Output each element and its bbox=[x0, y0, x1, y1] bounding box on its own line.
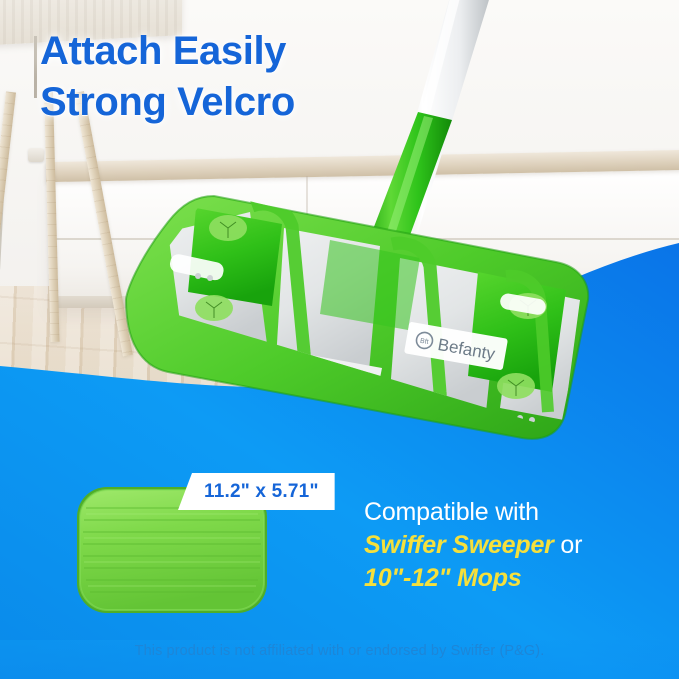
dimension-badge-shape: 11.2" x 5.71" bbox=[178, 473, 335, 510]
dimension-badge-text: 11.2" x 5.71" bbox=[204, 481, 319, 503]
compatibility-emphasis-swiffer: Swiffer Sweeper bbox=[364, 531, 554, 559]
product-marketing-image: Bft Befanty Attach Easily Strong Velcro bbox=[0, 0, 679, 679]
compatibility-copy: Compatible with Swiffer Sweeper or 10"-1… bbox=[364, 496, 664, 595]
compatibility-line-2-suffix: or bbox=[554, 531, 583, 559]
compatibility-line-2: Swiffer Sweeper or bbox=[364, 529, 664, 562]
compatibility-line-3: 10"-12" Mops bbox=[364, 562, 664, 595]
brand-mark-text: Bft bbox=[419, 338, 429, 346]
compatibility-emphasis-mops: 10"-12" Mops bbox=[364, 564, 521, 592]
dimension-badge: 11.2" x 5.71" bbox=[178, 473, 335, 510]
headline-line-1: Attach Easily bbox=[40, 26, 460, 77]
headline-line-2: Strong Velcro bbox=[40, 77, 460, 128]
mop-head: Bft Befanty bbox=[126, 196, 588, 439]
compatibility-line-1: Compatible with bbox=[364, 496, 664, 529]
headline: Attach Easily Strong Velcro bbox=[40, 26, 460, 128]
disclaimer-text: This product is not affiliated with or e… bbox=[0, 643, 679, 659]
